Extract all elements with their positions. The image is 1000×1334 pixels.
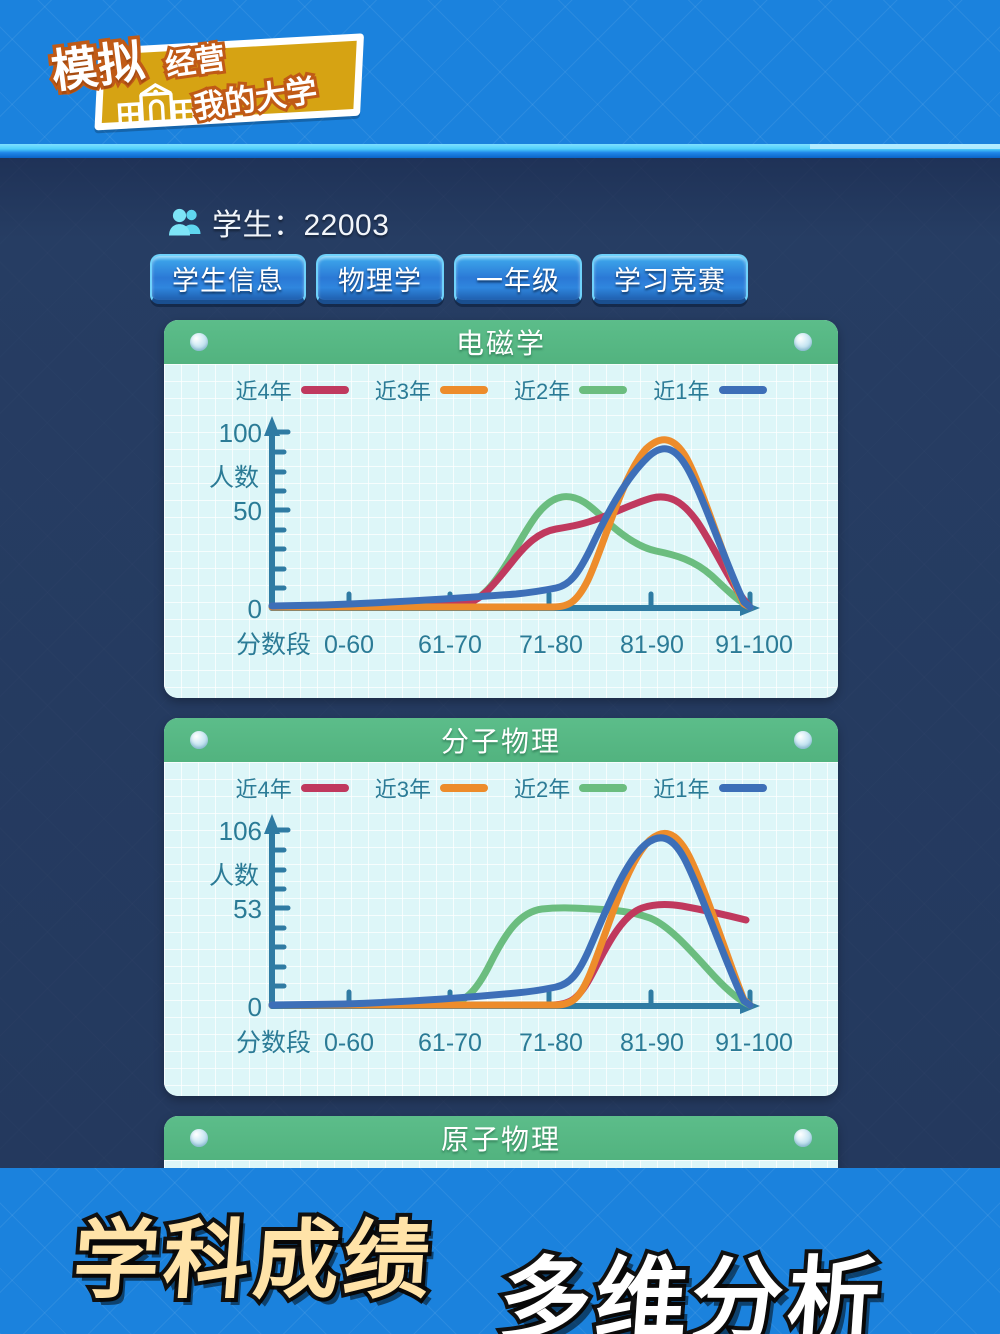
x-axis-label: 分数段 <box>236 631 311 659</box>
legend-swatch-2y <box>579 386 627 394</box>
card-body: 近4年 近3年 近2年 近1年 <box>164 364 838 698</box>
card-atomic-physics: 原子物理 <box>164 1116 838 1168</box>
student-count-row: 学生：22003 <box>168 200 389 244</box>
legend-label: 近2年 <box>514 374 570 406</box>
legend-label: 近3年 <box>375 772 431 804</box>
series-line-3y <box>272 833 750 1005</box>
y-axis-label: 人数 <box>209 464 259 492</box>
header-dot-left-icon <box>190 333 208 351</box>
legend-swatch-3y <box>440 386 488 394</box>
y-tick-100: 100 <box>219 418 262 448</box>
app-header: 模拟 经营 我的大学 <box>0 0 1000 158</box>
y-tick-53: 53 <box>233 894 262 924</box>
card-title: 电磁学 <box>456 322 546 362</box>
main-content: 学生：22003 学生信息 物理学 一年级 学习竞赛 电磁学 近4年 近3年 <box>0 158 1000 1168</box>
series-line-1y <box>272 449 750 607</box>
legend-swatch-2y <box>579 784 627 792</box>
chart-legend: 近4年 近3年 近2年 近1年 <box>164 374 838 406</box>
header-divider <box>0 144 1000 158</box>
x-tick-81-90: 81-90 <box>620 1029 684 1057</box>
student-count-label: 学生：22003 <box>212 200 389 244</box>
chart-molecular-physics: 106 53 0 人数 分数段 0-60 61-70 71-80 81-90 9… <box>164 806 838 1096</box>
header-dot-right-icon <box>794 731 812 749</box>
legend-item-2y: 近2年 <box>514 374 627 406</box>
legend-label: 近4年 <box>236 772 292 804</box>
tab-student-info[interactable]: 学生信息 <box>150 254 306 304</box>
x-tick-0-60: 0-60 <box>324 631 374 659</box>
legend-swatch-4y <box>301 784 349 792</box>
chart-grid <box>164 1160 838 1168</box>
header-dot-left-icon <box>190 1129 208 1147</box>
card-body: 近4年 近3年 近2年 近1年 <box>164 762 838 1096</box>
card-molecular-physics: 分子物理 近4年 近3年 近2年 近1年 <box>164 718 838 1096</box>
banner-text-primary: 学科成绩 <box>70 1190 439 1315</box>
y-tick-0: 0 <box>248 992 262 1022</box>
card-header: 分子物理 <box>164 718 838 762</box>
y-tick-50: 50 <box>233 496 262 526</box>
legend-item-4y: 近4年 <box>236 772 349 804</box>
x-tick-0-60: 0-60 <box>324 1029 374 1057</box>
x-axis-label: 分数段 <box>236 1029 311 1057</box>
card-electromagnetics: 电磁学 近4年 近3年 近2年 近1年 <box>164 320 838 698</box>
legend-label: 近2年 <box>514 772 570 804</box>
logo-text-line2: 经营 <box>162 33 228 85</box>
legend-swatch-4y <box>301 386 349 394</box>
header-dot-right-icon <box>794 333 812 351</box>
legend-item-1y: 近1年 <box>653 374 766 406</box>
card-body <box>164 1160 838 1168</box>
game-logo: 模拟 经营 我的大学 <box>41 9 377 147</box>
y-axis-label: 人数 <box>209 862 259 890</box>
banner-text-secondary: 多维分析 <box>495 1226 888 1334</box>
x-tick-71-80: 71-80 <box>519 1029 583 1057</box>
promo-banner: 学科成绩 多维分析 <box>0 1168 1000 1334</box>
filter-tabs[interactable]: 学生信息 物理学 一年级 学习竞赛 <box>150 254 748 304</box>
legend-item-2y: 近2年 <box>514 772 627 804</box>
tab-study-competition[interactable]: 学习竞赛 <box>592 254 748 304</box>
logo-text-line1: 模拟 <box>47 25 149 102</box>
series-line-4y <box>272 904 746 1005</box>
x-tick-81-90: 81-90 <box>620 631 684 659</box>
people-icon <box>168 207 202 237</box>
card-header: 原子物理 <box>164 1116 838 1160</box>
legend-item-3y: 近3年 <box>375 772 488 804</box>
x-tick-91-100: 91-100 <box>715 1029 793 1057</box>
chart-legend: 近4年 近3年 近2年 近1年 <box>164 772 838 804</box>
x-tick-91-100: 91-100 <box>715 631 793 659</box>
legend-item-4y: 近4年 <box>236 374 349 406</box>
x-tick-61-70: 61-70 <box>418 1029 482 1057</box>
legend-item-1y: 近1年 <box>653 772 766 804</box>
header-dot-left-icon <box>190 731 208 749</box>
legend-swatch-3y <box>440 784 488 792</box>
header-dot-right-icon <box>794 1129 812 1147</box>
card-title: 原子物理 <box>441 1118 561 1158</box>
series-line-3y <box>272 440 750 607</box>
x-tick-71-80: 71-80 <box>519 631 583 659</box>
legend-swatch-1y <box>719 386 767 394</box>
legend-label: 近4年 <box>236 374 292 406</box>
legend-item-3y: 近3年 <box>375 374 488 406</box>
tab-grade-one[interactable]: 一年级 <box>454 254 582 304</box>
chart-electromagnetics: 100 50 0 人数 分数段 0-60 61-70 71-80 81-90 9… <box>164 408 838 698</box>
y-tick-106: 106 <box>219 816 262 846</box>
x-tick-61-70: 61-70 <box>418 631 482 659</box>
series-line-1y <box>272 838 750 1005</box>
tab-physics[interactable]: 物理学 <box>316 254 444 304</box>
legend-swatch-1y <box>719 784 767 792</box>
y-tick-0: 0 <box>248 594 262 624</box>
legend-label: 近1年 <box>653 374 709 406</box>
card-title: 分子物理 <box>441 720 561 760</box>
card-header: 电磁学 <box>164 320 838 364</box>
legend-label: 近1年 <box>653 772 709 804</box>
series-line-2y <box>272 497 750 607</box>
legend-label: 近3年 <box>375 374 431 406</box>
